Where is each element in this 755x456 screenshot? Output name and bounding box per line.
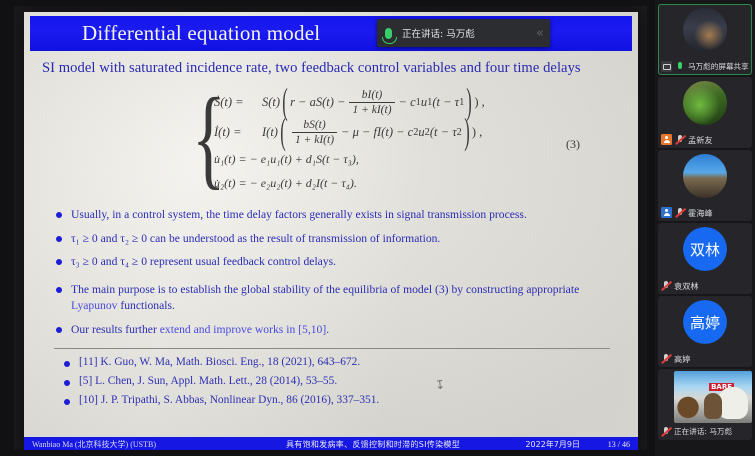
equation-row-2: İ(t) = I(t) ( bS(t) 1 + kI(t) − μ − fI(t… bbox=[214, 117, 544, 147]
page-title: Differential equation model bbox=[30, 21, 320, 46]
avatar-photo bbox=[683, 81, 727, 125]
list-item: [10] J. P. Tripathi, S. Abbas, Nonlinear… bbox=[64, 394, 622, 406]
person-badge-icon bbox=[661, 207, 672, 218]
bullet-dot-icon bbox=[56, 327, 62, 333]
bullet-dot-icon bbox=[64, 399, 70, 405]
participant-tile-6[interactable]: BARE BEARS 正在讲话: 马万彪 bbox=[658, 369, 752, 440]
bullet-dot-icon bbox=[56, 212, 62, 218]
microphone-icon bbox=[385, 28, 392, 39]
bullet-list-delays: Usually, in a control system, the time d… bbox=[42, 207, 622, 270]
footer-page-number: 13 / 46 bbox=[590, 440, 630, 449]
chevron-left-icon[interactable]: « bbox=[536, 26, 542, 41]
list-item: Usually, in a control system, the time d… bbox=[56, 207, 596, 223]
reference-divider bbox=[54, 348, 610, 349]
tile-footer: 高婷 bbox=[658, 350, 752, 367]
participant-filmstrip[interactable]: 马万彪的屏幕共享 孟新友 霍海峰 bbox=[655, 0, 755, 456]
footer-date: 2022年7月9日 bbox=[504, 439, 590, 450]
bullet-text: The main purpose is to establish the glo… bbox=[71, 282, 596, 315]
presentation-slide[interactable]: Differential equation model SI model wit… bbox=[24, 12, 638, 450]
microphone-muted-icon bbox=[661, 353, 671, 365]
participant-tile-screenshare[interactable]: 马万彪的屏幕共享 bbox=[658, 4, 752, 75]
mouse-cursor-icon: ↧ bbox=[434, 378, 445, 393]
eq2-sub-3: 2 bbox=[457, 127, 462, 138]
avatar bbox=[683, 8, 727, 52]
eq1-factor: S(t) bbox=[262, 95, 280, 110]
participant-tile-5[interactable]: 高婷 高婷 bbox=[658, 296, 752, 367]
equation-row-1: Ṡ(t) = S(t) ( r − aS(t) − bI(t) 1 + kI(t… bbox=[214, 87, 544, 117]
bullet-dot-icon bbox=[56, 287, 62, 293]
eq2-lhs: İ(t) = bbox=[214, 125, 262, 140]
footer-title: 具有饱和发病率、反馈控制和时滞的SI传染模型 bbox=[242, 439, 504, 450]
participant-tile-2[interactable]: 孟新友 bbox=[658, 77, 752, 148]
eq2-fraction: bS(t) 1 + kI(t) bbox=[292, 119, 337, 146]
avatar bbox=[683, 81, 727, 125]
equation-row-4: u̇₂(t) = − e₂u₂(t) + d₂I(t − τ₄). bbox=[214, 171, 544, 195]
list-item: [11] K. Guo, W. Ma, Math. Biosci. Eng., … bbox=[64, 356, 622, 368]
eq1-numerator: bI(t) bbox=[359, 89, 385, 102]
tile-footer: 马万彪的屏幕共享 bbox=[658, 58, 752, 75]
bullet-text: Usually, in a control system, the time d… bbox=[71, 207, 527, 223]
eq2-tail: ) , bbox=[472, 125, 482, 140]
participant-name: 孟新友 bbox=[688, 134, 713, 146]
participant-name: 袁双林 bbox=[674, 280, 699, 292]
reference-list: [11] K. Guo, W. Ma, Math. Biosci. Eng., … bbox=[42, 356, 622, 406]
active-speaker-banner[interactable]: 正在讲话: 马万彪 « bbox=[377, 19, 550, 47]
bullet-dot-icon bbox=[64, 380, 70, 386]
participant-name: 马万彪的屏幕共享 bbox=[688, 61, 749, 72]
bullet-post: . bbox=[326, 323, 329, 336]
bullet-highlight: extend and improve works in [5,10] bbox=[160, 323, 326, 336]
bullet-highlight: Lyapunov bbox=[71, 299, 117, 312]
eq1-denominator: 1 + kI(t) bbox=[349, 102, 394, 116]
bullet-dot-icon bbox=[64, 361, 70, 367]
equation-number: (3) bbox=[566, 137, 580, 152]
reference-text: [11] K. Guo, W. Ma, Math. Biosci. Eng., … bbox=[79, 356, 360, 368]
participant-name: 高婷 bbox=[674, 353, 690, 365]
participant-tile-3[interactable]: 霍海峰 bbox=[658, 150, 752, 221]
eq3-text: u̇₁(t) = − e₁u₁(t) + d₁S(t − τ₃), bbox=[214, 152, 359, 167]
microphone-muted-icon bbox=[661, 426, 671, 438]
bullet-text: τ₃ ≥ 0 and τ₄ ≥ 0 represent usual feedba… bbox=[71, 254, 336, 270]
tile-footer: 袁双林 bbox=[658, 277, 752, 294]
tile-footer: 正在讲话: 马万彪 bbox=[658, 423, 752, 440]
eq2-factor: I(t) bbox=[262, 125, 278, 140]
bullet-text: τ₁ ≥ 0 and τ₂ ≥ 0 can be understood as t… bbox=[71, 231, 440, 247]
microphone-muted-icon bbox=[675, 207, 685, 219]
eq1-fraction: bI(t) 1 + kI(t) bbox=[349, 89, 394, 116]
eq1-term-a: r − aS(t) − bbox=[290, 95, 345, 110]
bullet-post: functionals. bbox=[117, 299, 174, 312]
cartoon-bear-shape-2 bbox=[704, 393, 722, 419]
eq4-text: u̇₂(t) = − e₂u₂(t) + d₂I(t − τ₄). bbox=[214, 176, 357, 191]
screen-share-icon bbox=[661, 61, 672, 72]
list-item: Our results further extend and improve w… bbox=[56, 322, 596, 338]
eq1-tail: ) , bbox=[474, 95, 484, 110]
eq2-delay: (t − τ bbox=[430, 125, 457, 140]
avatar-initials: 高婷 bbox=[683, 300, 727, 344]
reference-text: [10] J. P. Tripathi, S. Abbas, Nonlinear… bbox=[79, 394, 379, 406]
eq1-term-b: − c bbox=[399, 95, 416, 110]
microphone-muted-icon bbox=[661, 280, 671, 292]
bullet-dot-icon bbox=[56, 259, 62, 265]
projector-frame: Differential equation model SI model wit… bbox=[14, 6, 647, 450]
bullet-pre: Our results further bbox=[71, 323, 160, 336]
slide-footer: Wanbiao Ma (北京科技大学) (USTB) 具有饱和发病率、反馈控制和… bbox=[24, 437, 638, 450]
list-item: The main purpose is to establish the glo… bbox=[56, 282, 596, 315]
avatar: 双林 bbox=[683, 227, 727, 271]
participant-name: 正在讲话: 马万彪 bbox=[674, 426, 732, 437]
microphone-muted-icon bbox=[675, 134, 685, 146]
equation-rows: Ṡ(t) = S(t) ( r − aS(t) − bI(t) 1 + kI(t… bbox=[214, 87, 544, 195]
meeting-screen: Differential equation model SI model wit… bbox=[0, 0, 755, 456]
list-item: τ₃ ≥ 0 and τ₄ ≥ 0 represent usual feedba… bbox=[56, 254, 596, 270]
avatar: 高婷 bbox=[683, 300, 727, 344]
eq2-numerator: bS(t) bbox=[300, 119, 328, 132]
equation-system: { Ṡ(t) = S(t) ( r − aS(t) − bI(t) 1 + kI… bbox=[42, 87, 622, 203]
eq1-sub-3: 1 bbox=[459, 97, 464, 108]
slide-subtitle: SI model with saturated incidence rate, … bbox=[42, 59, 602, 78]
list-item: τ₁ ≥ 0 and τ₂ ≥ 0 can be understood as t… bbox=[56, 231, 596, 247]
participant-name: 霍海峰 bbox=[688, 207, 713, 219]
list-item: [5] L. Chen, J. Sun, Appl. Math. Lett., … bbox=[64, 375, 622, 387]
eq1-lhs: Ṡ(t) = bbox=[214, 95, 262, 110]
bullet-list-purpose: The main purpose is to establish the glo… bbox=[42, 282, 622, 338]
eq2-denominator: 1 + kI(t) bbox=[292, 132, 337, 146]
footer-author: Wanbiao Ma (北京科技大学) (USTB) bbox=[32, 439, 242, 450]
eq1-delay: (t − τ bbox=[432, 95, 459, 110]
equation-row-3: u̇₁(t) = − e₁u₁(t) + d₁S(t − τ₃), bbox=[214, 147, 544, 171]
tile-footer: 孟新友 bbox=[658, 131, 752, 148]
shared-screen-region[interactable]: Differential equation model SI model wit… bbox=[0, 0, 655, 456]
active-speaker-label: 正在讲话: 马万彪 bbox=[402, 26, 475, 40]
person-badge-icon bbox=[661, 134, 672, 145]
avatar bbox=[683, 154, 727, 198]
slide-body: SI model with saturated incidence rate, … bbox=[24, 51, 638, 406]
bullet-pre: The main purpose is to establish the glo… bbox=[71, 283, 579, 296]
bullet-dot-icon bbox=[56, 236, 62, 242]
bullet-text: Our results further extend and improve w… bbox=[71, 322, 329, 338]
avatar-initials: 双林 bbox=[683, 227, 727, 271]
reference-text: [5] L. Chen, J. Sun, Appl. Math. Lett., … bbox=[79, 375, 337, 387]
avatar-photo bbox=[683, 154, 727, 198]
avatar-photo: BARE BEARS bbox=[674, 371, 752, 423]
avatar-photo bbox=[683, 8, 727, 52]
tile-footer: 霍海峰 bbox=[658, 204, 752, 221]
cartoon-bear-shape bbox=[718, 387, 748, 419]
eq2-term-a: − μ − fI(t) − c bbox=[341, 125, 413, 140]
microphone-on-icon bbox=[675, 61, 685, 73]
participant-tile-4[interactable]: 双林 袁双林 bbox=[658, 223, 752, 294]
